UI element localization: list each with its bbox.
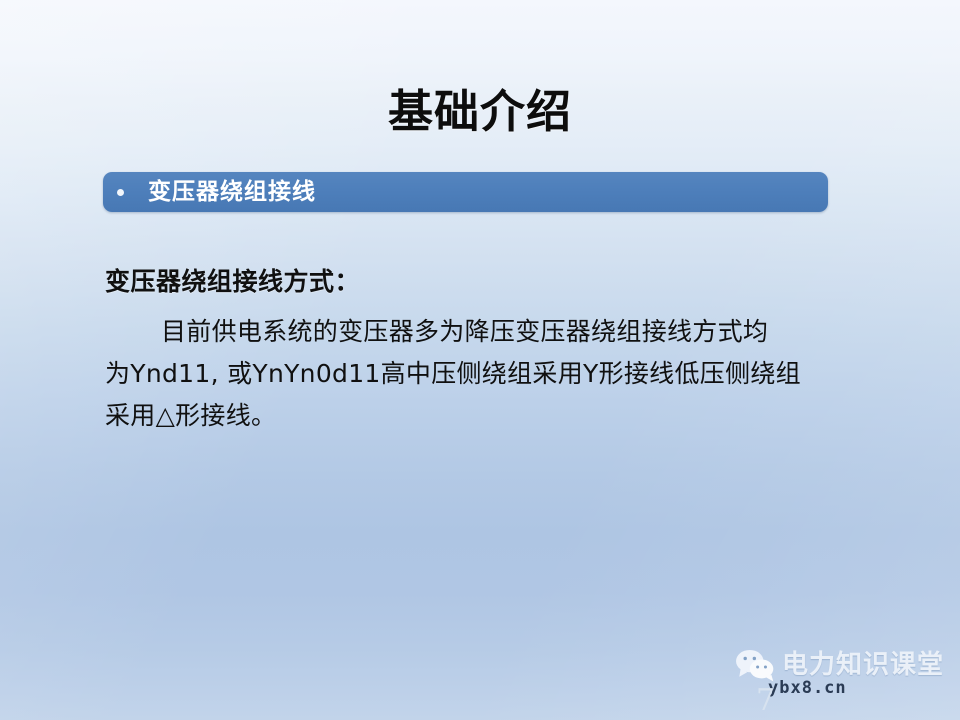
content-heading: 变压器绕组接线方式：	[105, 266, 865, 297]
paragraph-line-1-text: 目前供电系统的变压器多为降压变压器绕组接线方式均	[161, 317, 768, 346]
slide: 基础介绍 变压器绕组接线 变压器绕组接线方式： 目前供电系统的变压器多为降压变压…	[0, 0, 960, 720]
paragraph-line-1: 目前供电系统的变压器多为降压变压器绕组接线方式均	[105, 311, 865, 353]
watermark-url: ybx8.cn	[768, 678, 847, 698]
content-paragraph: 目前供电系统的变压器多为降压变压器绕组接线方式均 为Ynd11, 或YnYn0d…	[105, 311, 865, 437]
page-title: 基础介绍	[0, 88, 960, 136]
content-block: 变压器绕组接线方式： 目前供电系统的变压器多为降压变压器绕组接线方式均 为Ynd…	[105, 266, 865, 437]
bullet-icon	[117, 189, 124, 196]
watermark-brand: 电力知识课堂	[782, 652, 944, 678]
section-heading-label: 变压器绕组接线	[148, 181, 316, 204]
page-number: 7	[756, 686, 775, 716]
watermark: 电力知识课堂	[734, 648, 944, 682]
paragraph-line-2: 为Ynd11, 或YnYn0d11高中压侧绕组采用Y形接线低压侧绕组	[105, 353, 865, 395]
paragraph-line-3: 采用△形接线。	[105, 395, 865, 437]
wechat-icon	[734, 648, 776, 682]
section-heading-bar[interactable]: 变压器绕组接线	[103, 172, 828, 212]
